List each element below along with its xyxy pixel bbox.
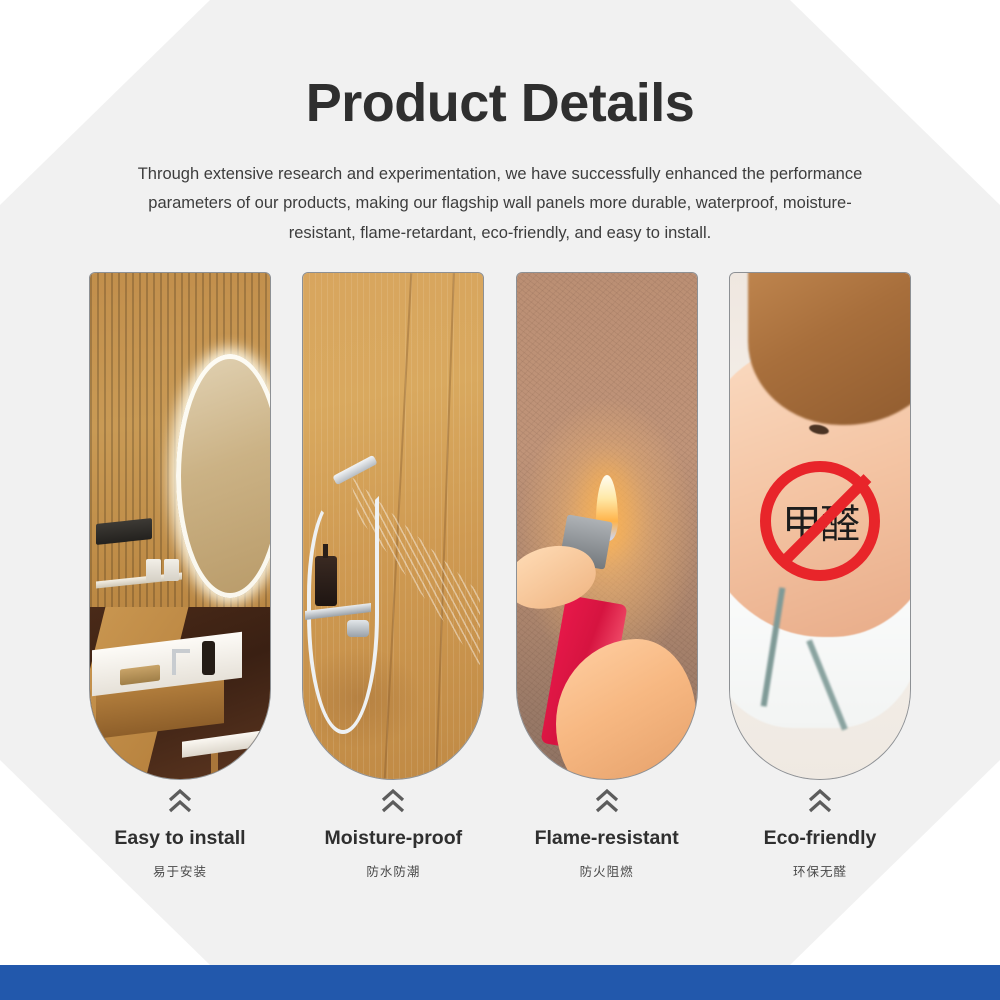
feature-caption-row: Easy to install 易于安装 Moisture-proof 防水防潮… (89, 788, 911, 880)
double-chevron-up-icon (807, 788, 833, 814)
feature-caption-easy-to-install: Easy to install 易于安装 (89, 788, 271, 880)
soap-dispenser (315, 556, 337, 606)
feature-label-zh: 防水防潮 (302, 861, 484, 880)
bottom-accent-bar (0, 965, 1000, 1000)
shower-photo (303, 273, 483, 779)
soap-bottle (202, 641, 215, 675)
feature-image-row: 甲醛 (89, 272, 911, 780)
feature-label-zh: 环保无醛 (729, 861, 911, 880)
double-chevron-up-icon (380, 788, 406, 814)
feature-label-en: Moisture-proof (302, 828, 484, 849)
feature-label-zh: 防火阻燃 (516, 861, 698, 880)
feature-image-easy-to-install (89, 272, 271, 780)
product-details-page: Product Details Through extensive resear… (0, 0, 1000, 1000)
bathroom-photo (90, 273, 270, 779)
flame-test-photo (517, 273, 697, 779)
feature-label-en: Easy to install (89, 828, 271, 849)
feature-caption-eco-friendly: Eco-friendly 环保无醛 (729, 788, 911, 880)
page-description: Through extensive research and experimen… (120, 160, 880, 248)
feature-image-moisture-proof (302, 272, 484, 780)
no-formaldehyde-icon (760, 461, 880, 581)
page-header: Product Details Through extensive resear… (0, 0, 1000, 248)
page-title: Product Details (0, 0, 1000, 134)
mixer-valve (347, 620, 369, 637)
led-mirror (176, 354, 271, 598)
feature-image-flame-resistant (516, 272, 698, 780)
feature-label-en: Eco-friendly (729, 828, 911, 849)
wall-switch (96, 518, 152, 545)
feature-caption-moisture-proof: Moisture-proof 防水防潮 (302, 788, 484, 880)
feature-label-en: Flame-resistant (516, 828, 698, 849)
faucet (172, 649, 176, 675)
cup (164, 559, 179, 581)
double-chevron-up-icon (167, 788, 193, 814)
feature-image-eco-friendly: 甲醛 (729, 272, 911, 780)
baby-photo: 甲醛 (730, 273, 910, 779)
cup (146, 559, 161, 581)
feature-label-zh: 易于安装 (89, 861, 271, 880)
feature-caption-flame-resistant: Flame-resistant 防火阻燃 (516, 788, 698, 880)
panel-seam (435, 273, 455, 779)
double-chevron-up-icon (594, 788, 620, 814)
